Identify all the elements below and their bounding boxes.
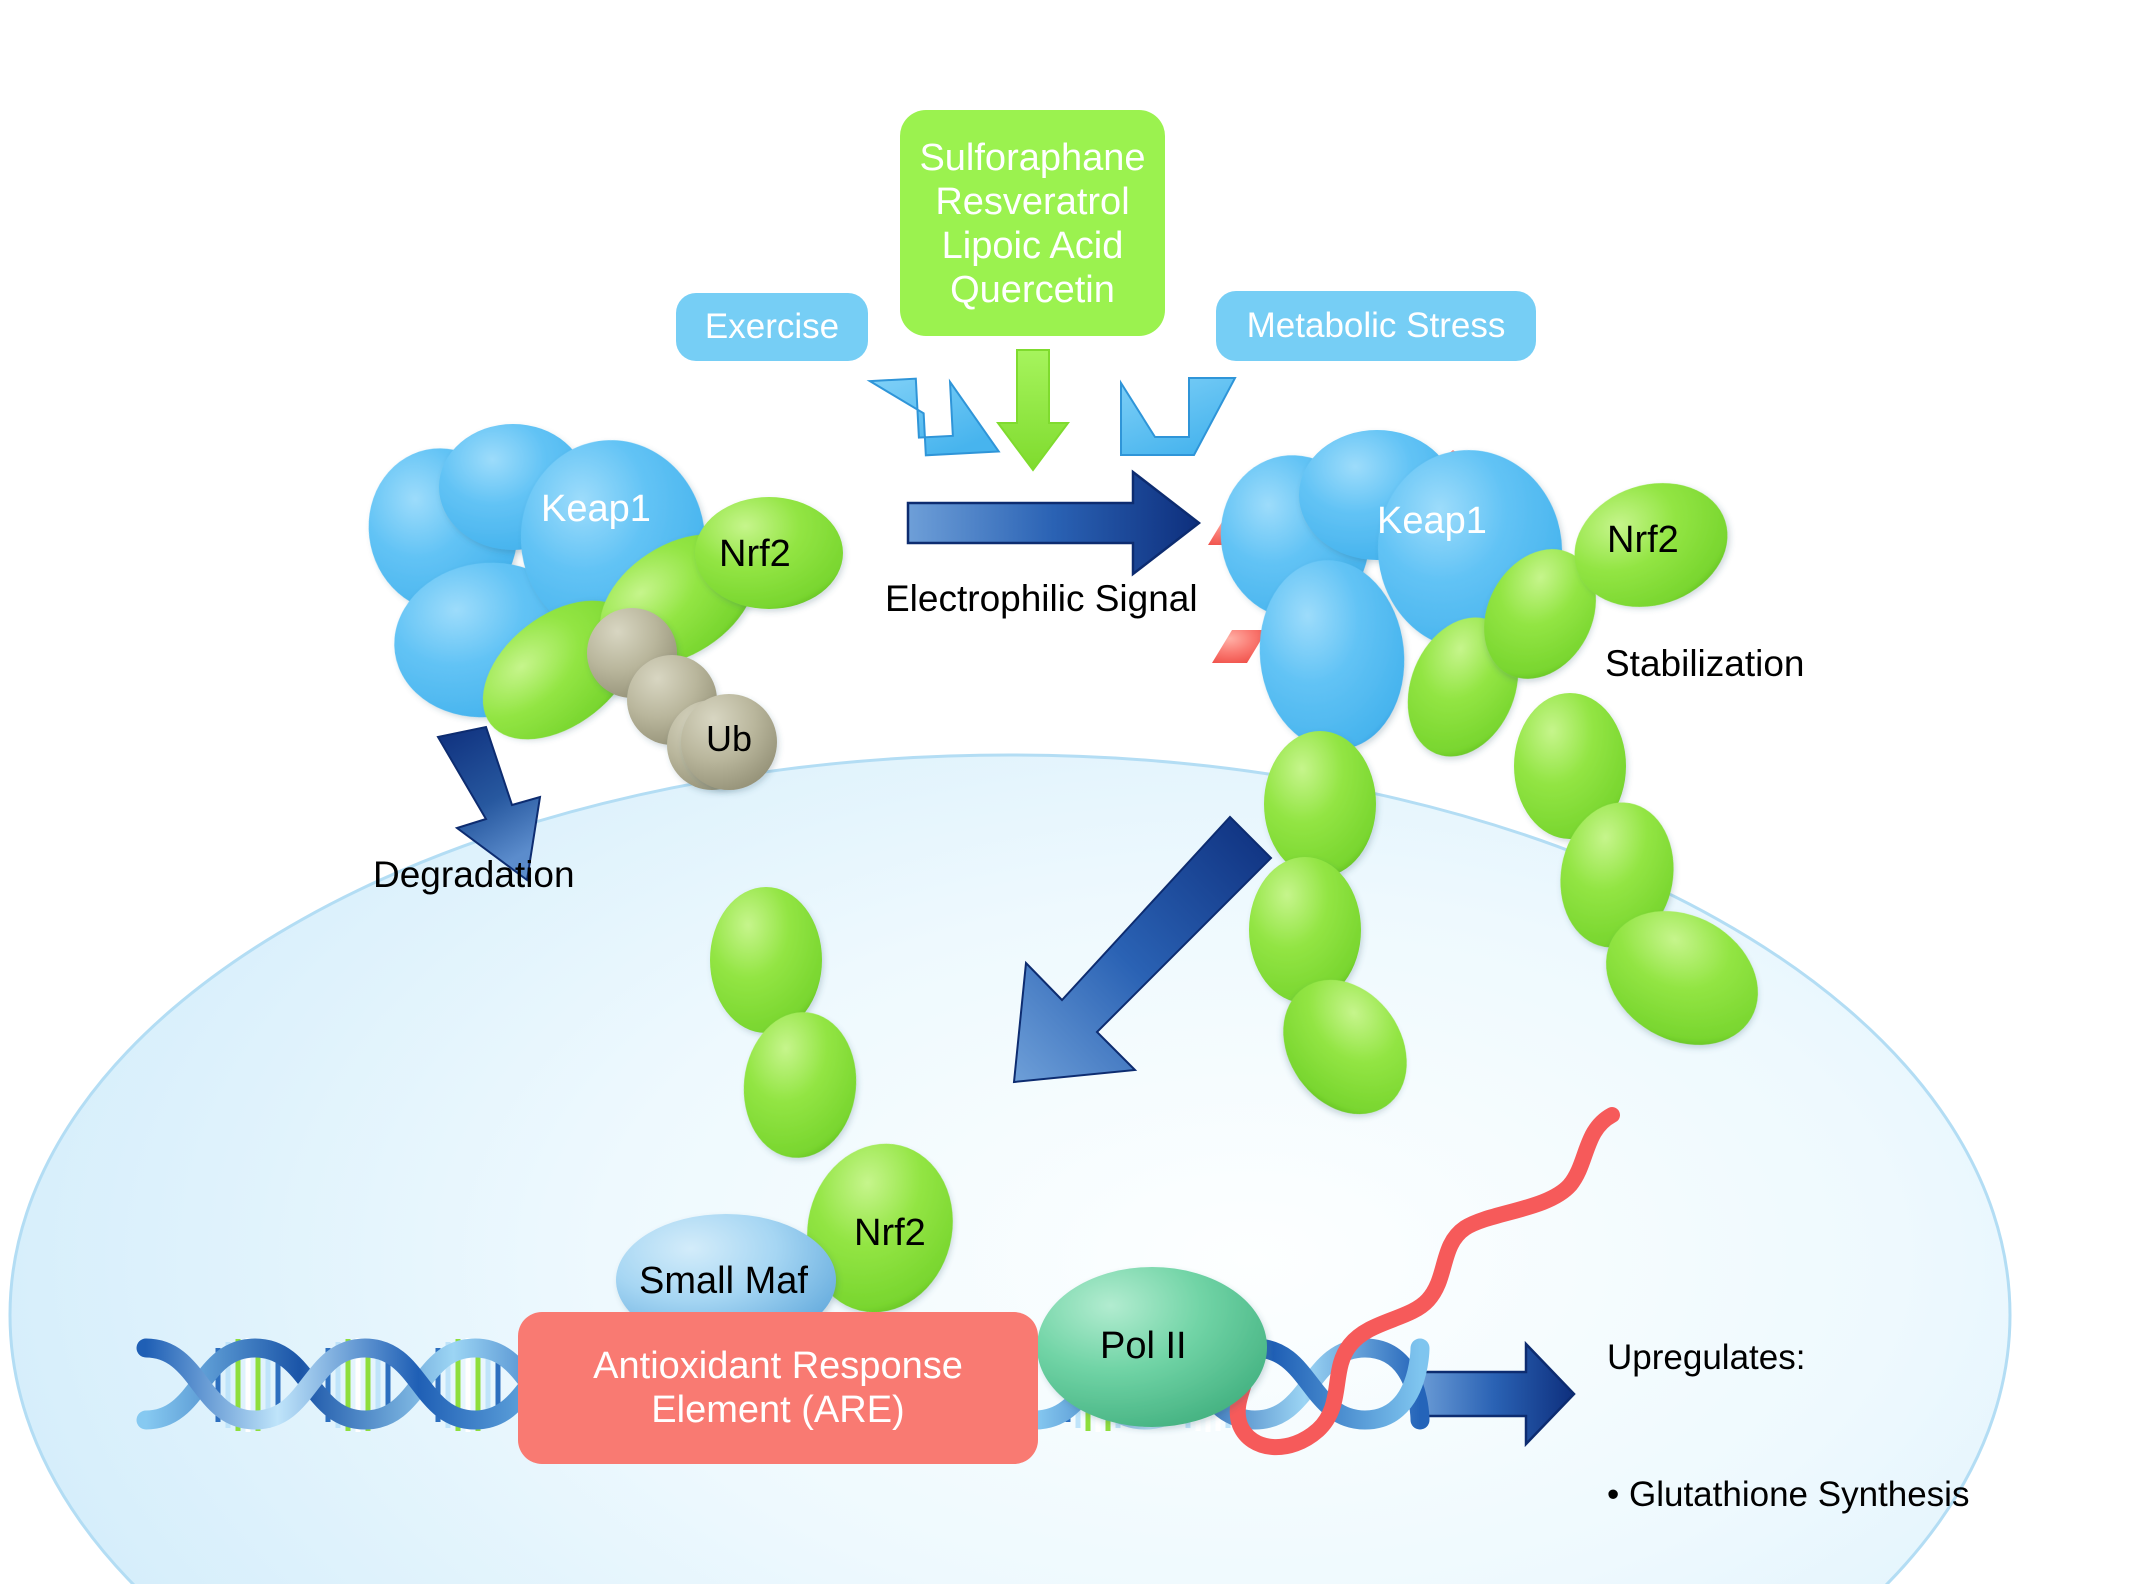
antioxidant-response-element-box[interactable]: Antioxidant Response Element (ARE)	[518, 1312, 1038, 1464]
electrophilic-signal-label: Electrophilic Signal	[885, 580, 1198, 617]
ubiquitin-ball-final	[681, 694, 777, 790]
pol-ii-protein	[1037, 1267, 1267, 1427]
nrf2-domain-head	[695, 497, 843, 609]
nrf2-domain	[710, 887, 822, 1033]
nrf2-translocating-chain-right	[1514, 693, 1782, 1072]
nrf2-domain	[1264, 731, 1376, 877]
stimulus-metabolic-stress-box[interactable]: Metabolic Stress	[1216, 291, 1536, 361]
nrf2-translocating-chain-left	[1249, 731, 1432, 1138]
upregulates-heading: Upregulates:	[1607, 1335, 1993, 1381]
list-item: • Glutathione Synthesis	[1607, 1472, 1993, 1518]
stimulus-exercise-box[interactable]: Exercise	[676, 293, 868, 361]
stimulus-phytochemicals-box[interactable]: Sulforaphane Resveratrol Lipoic Acid Que…	[900, 110, 1165, 336]
red-diamond-icon	[1212, 630, 1267, 663]
stabilization-label: Stabilization	[1605, 645, 1805, 682]
degradation-label: Degradation	[373, 856, 575, 893]
pathway-diagram: Exercise Sulforaphane Resveratrol Lipoic…	[0, 0, 2152, 1584]
modified-keap1-nrf2-complex	[1208, 430, 1744, 773]
keap1-nrf2-ubiquitin-complex	[354, 424, 843, 790]
nrf2-domain	[1249, 857, 1361, 1003]
upregulated-genes-list: Upregulates: • Glutathione Synthesis • G…	[1607, 1244, 1993, 1584]
